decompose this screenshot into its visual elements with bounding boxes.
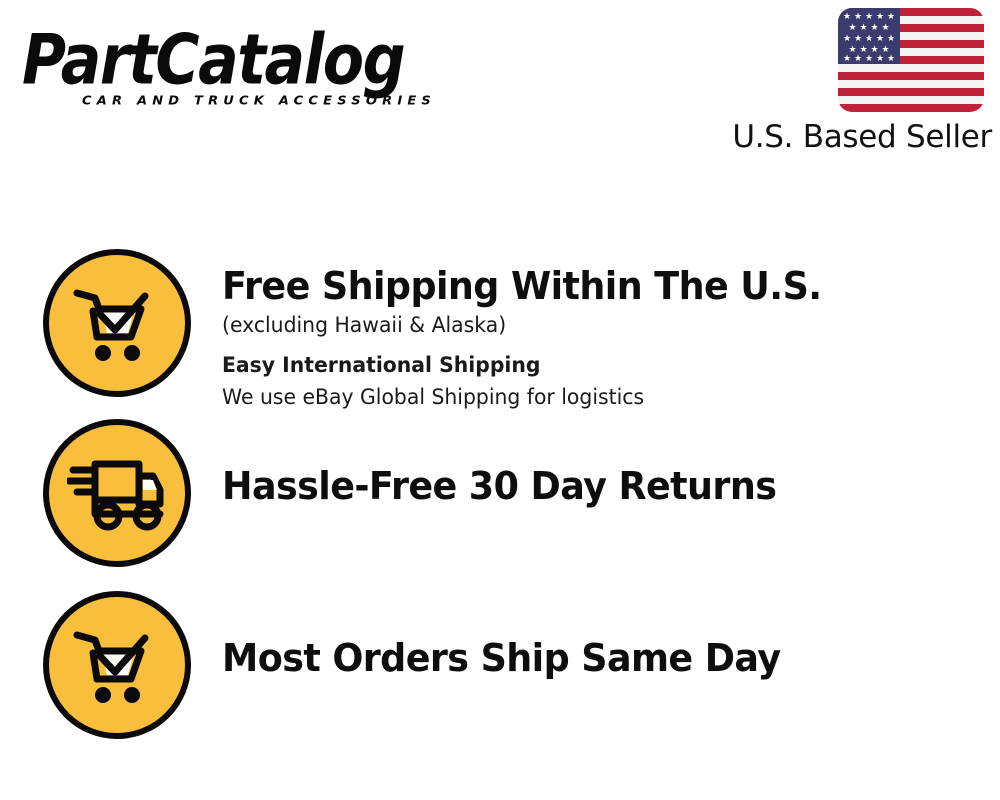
flag-star-row: ★★★★★ (838, 33, 900, 43)
feature-subnote: (excluding Hawaii & Alaska) (222, 309, 959, 341)
shopping-cart-check-icon (43, 249, 191, 397)
brand-wordmark: PartCatalog (22, 22, 478, 98)
flag-star-row: ★★★★★ (838, 53, 900, 63)
brand-logo[interactable]: PartCatalog CAR AND TRUCK ACCESSORIES (22, 22, 492, 117)
us-flag-icon: ★★★★★ ★★★★ ★★★★★ ★★★★ ★★★★★ (838, 8, 984, 112)
page-header: PartCatalog CAR AND TRUCK ACCESSORIES ★★… (0, 0, 1000, 175)
us-based-seller-label: U.S. Based Seller (702, 119, 992, 155)
brand-tagline: CAR AND TRUCK ACCESSORIES (82, 94, 436, 108)
feature-text-block: Most Orders Ship Same Day (222, 635, 982, 681)
shopping-cart-check-icon (43, 591, 191, 739)
feature-title: Most Orders Ship Same Day (222, 635, 952, 681)
flag-star-row: ★★★★★ (838, 11, 900, 21)
feature-subheading: Easy International Shipping (222, 349, 959, 381)
feature-title: Free Shipping Within The U.S. (222, 263, 952, 309)
feature-subdetail: We use eBay Global Shipping for logistic… (222, 381, 959, 413)
feature-title: Hassle-Free 30 Day Returns (222, 463, 952, 509)
feature-text-block: Hassle-Free 30 Day Returns (222, 463, 982, 509)
flag-star-row: ★★★★ (838, 22, 900, 32)
feature-text-block: Free Shipping Within The U.S. (excluding… (222, 263, 982, 413)
delivery-truck-icon (43, 419, 191, 567)
flag-canton: ★★★★★ ★★★★ ★★★★★ ★★★★ ★★★★★ (838, 8, 900, 64)
us-based-seller-block: ★★★★★ ★★★★ ★★★★★ ★★★★ ★★★★★ U.S. Based S… (702, 8, 992, 155)
